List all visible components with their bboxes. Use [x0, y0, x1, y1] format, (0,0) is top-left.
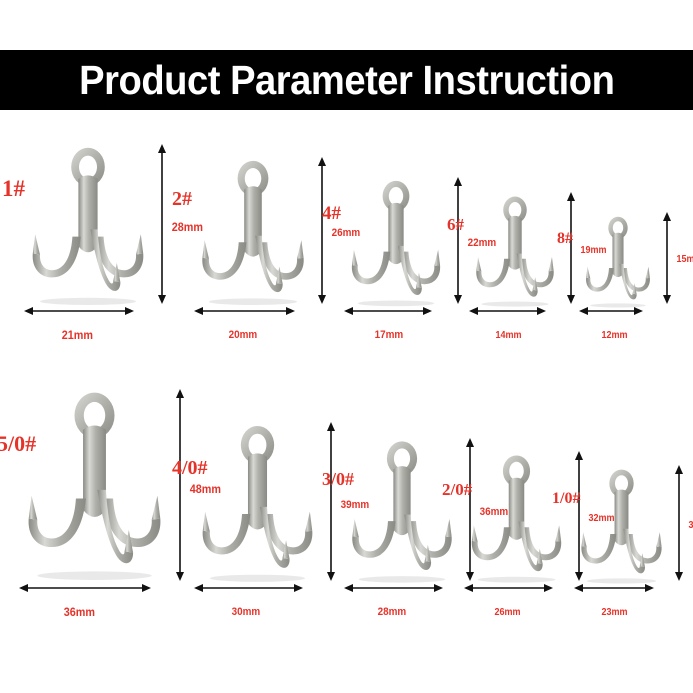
hook-image [198, 156, 308, 311]
horizontal-dimension-line [19, 581, 151, 595]
height-dimension [154, 144, 170, 309]
hook-spec-cell: 1/0# 30mm 23mm [560, 360, 693, 630]
hook-image [348, 177, 444, 311]
width-value: 20mm [229, 330, 258, 341]
height-value: 15mm [676, 255, 693, 265]
hook-size-label: 1/0# [552, 491, 580, 507]
hook-spec-cell: 8# 15mm 12mm [565, 118, 693, 353]
vertical-dimension-line [154, 144, 170, 304]
hook-image [578, 466, 665, 588]
width-value: 23mm [602, 608, 628, 618]
hook-image [348, 437, 456, 588]
hook-size-label: 2# [172, 189, 192, 209]
hook-size-label: 5/0# [0, 433, 36, 455]
width-dimension [19, 581, 151, 600]
treble-hook-graphic [473, 193, 557, 311]
horizontal-dimension-line [24, 304, 134, 318]
horizontal-dimension-line [194, 304, 295, 318]
hook-image [28, 143, 148, 311]
horizontal-dimension-line [344, 304, 432, 318]
treble-hook-graphic [348, 437, 456, 588]
vertical-dimension-line [671, 465, 687, 581]
width-value: 26mm [495, 608, 521, 618]
hook-image [23, 386, 166, 588]
hook-image [468, 451, 565, 588]
treble-hook-graphic [198, 156, 308, 311]
horizontal-dimension-line [579, 304, 643, 318]
hook-image [583, 214, 653, 311]
treble-hook-graphic [468, 451, 565, 588]
treble-hook-graphic [578, 466, 665, 588]
width-dimension [344, 581, 443, 600]
height-value: 30mm [688, 521, 693, 531]
width-dimension [24, 304, 134, 323]
hook-image [198, 421, 317, 588]
horizontal-dimension-line [344, 581, 443, 595]
vertical-dimension-line [659, 212, 675, 304]
height-dimension [314, 157, 330, 309]
hook-size-label: 2/0# [442, 481, 472, 498]
width-dimension [469, 304, 546, 323]
hook-row-standard: 1# 28mm 21mm 2# 26mm 20m [0, 118, 693, 353]
width-dimension [194, 304, 295, 323]
treble-hook-graphic [23, 386, 166, 588]
treble-hook-graphic [28, 143, 148, 311]
width-dimension [574, 581, 654, 600]
hook-size-label: 4/0# [172, 458, 208, 478]
treble-hook-graphic [198, 421, 317, 588]
horizontal-dimension-line [194, 581, 303, 595]
width-value: 12mm [601, 331, 627, 341]
width-value: 14mm [496, 331, 522, 341]
width-dimension [464, 581, 553, 600]
treble-hook-graphic [348, 177, 444, 311]
hook-row-aught: 5/0# 48mm 36mm 4/0# 39mm [0, 360, 693, 630]
width-value: 28mm [378, 607, 407, 618]
width-value: 17mm [374, 330, 403, 341]
width-value: 30mm [231, 607, 260, 618]
width-value: 36mm [64, 606, 95, 618]
hook-size-label: 4# [322, 204, 341, 223]
hook-image [473, 193, 557, 311]
horizontal-dimension-line [574, 581, 654, 595]
hook-size-label: 8# [557, 231, 573, 247]
width-dimension [194, 581, 303, 600]
vertical-dimension-line [314, 157, 330, 304]
treble-hook-graphic [583, 214, 653, 311]
height-dimension [659, 212, 675, 309]
horizontal-dimension-line [464, 581, 553, 595]
horizontal-dimension-line [469, 304, 546, 318]
width-value: 21mm [62, 329, 93, 341]
title-banner: Product Parameter Instruction [0, 50, 693, 110]
hook-size-label: 1# [2, 177, 25, 200]
product-parameter-sheet: Product Parameter Instruction 1# 28mm [0, 0, 693, 693]
width-dimension [344, 304, 432, 323]
page-title: Product Parameter Instruction [79, 60, 614, 101]
width-dimension [579, 304, 643, 323]
hook-size-label: 3/0# [322, 470, 354, 488]
height-dimension [671, 465, 687, 586]
hook-size-label: 6# [447, 216, 464, 233]
